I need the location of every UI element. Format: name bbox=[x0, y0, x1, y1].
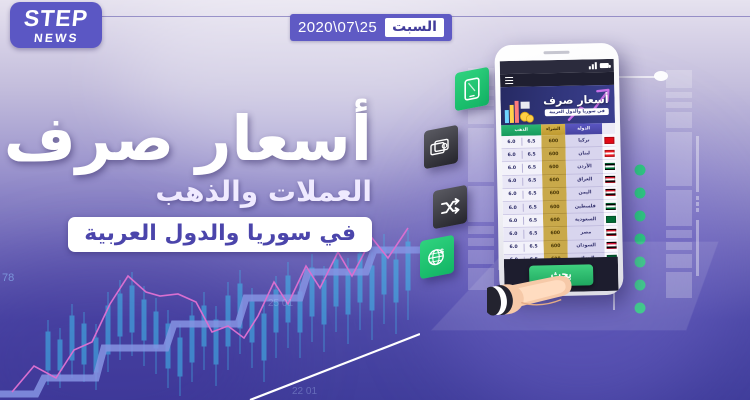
cell-country-flag bbox=[603, 160, 616, 173]
cell-country-name: فلسطين bbox=[567, 200, 604, 214]
cell-gold-prices: 6.06.5 bbox=[502, 188, 542, 202]
date-value: 2020\07\25 bbox=[298, 19, 377, 36]
page-scope-badge: في سوريا والدول العربية bbox=[68, 217, 372, 252]
step-line-blue bbox=[0, 250, 420, 394]
cell-gold-prices: 6.06.5 bbox=[502, 175, 542, 189]
cell-country-flag bbox=[604, 200, 617, 213]
flag-icon bbox=[605, 176, 615, 183]
app-header-banner: أسعار صرف في سوريا والدول العربية bbox=[500, 85, 615, 125]
cell-country-name: تركيا bbox=[565, 134, 602, 148]
cell-country-name: الأردن bbox=[566, 160, 603, 174]
gold-buy-value: 6.0 bbox=[508, 166, 516, 171]
app-title: أسعار صرف bbox=[543, 93, 609, 107]
trend-line-pink bbox=[12, 228, 408, 392]
cell-buy-rate: 600 bbox=[543, 201, 567, 215]
phone-speaker bbox=[544, 51, 570, 55]
gold-buy-value: 6.0 bbox=[509, 232, 517, 237]
search-button[interactable]: بحث bbox=[529, 264, 594, 286]
cell-country-flag bbox=[603, 147, 616, 160]
gold-sell-value: 6.5 bbox=[527, 139, 535, 144]
cell-buy-rate: 600 bbox=[542, 148, 566, 162]
gold-sell-value: 6.5 bbox=[528, 179, 536, 184]
gold-sell-value: 6.5 bbox=[529, 245, 537, 250]
cell-country-flag bbox=[602, 134, 615, 147]
globe-currency-icon[interactable]: $ bbox=[420, 235, 454, 280]
cell-gold-prices: 6.06.5 bbox=[503, 228, 543, 242]
phone-screen: أسعار صرف في سوريا والدول العربية الذهب … bbox=[500, 59, 619, 293]
battery-icon bbox=[600, 63, 609, 68]
flag-icon bbox=[606, 229, 616, 236]
cell-buy-rate: 600 bbox=[543, 227, 567, 241]
cards-stack-icon[interactable] bbox=[424, 125, 458, 170]
cell-gold-prices: 6.06.5 bbox=[503, 214, 543, 228]
cell-country-flag bbox=[603, 173, 616, 186]
flag-icon bbox=[605, 202, 615, 209]
date-bar: 2020\07\25 السبت bbox=[290, 14, 452, 41]
flag-icon bbox=[604, 163, 614, 170]
gold-buy-value: 6.0 bbox=[509, 245, 517, 250]
weekday-badge: السبت bbox=[385, 18, 444, 37]
cell-buy-rate: 600 bbox=[541, 135, 565, 149]
cell-buy-rate: 600 bbox=[542, 174, 566, 188]
search-bar: بحث bbox=[504, 257, 619, 293]
headline-block: أسعار صرف العملات والذهب في سوريا والدول… bbox=[22, 110, 372, 252]
column-header-flag bbox=[602, 123, 615, 134]
app-subtitle: في سوريا والدول العربية bbox=[545, 108, 609, 116]
step-news-logo[interactable]: STEP NEWS bbox=[10, 2, 102, 48]
cell-country-name: المغرب bbox=[569, 292, 606, 293]
cell-buy-rate: 600 bbox=[543, 240, 567, 254]
cell-country-name: لبنان bbox=[566, 147, 603, 161]
gold-buy-value: 6.0 bbox=[508, 153, 516, 158]
decorative-panel-right bbox=[660, 62, 720, 306]
gold-buy-value: 6.0 bbox=[508, 192, 516, 197]
gold-buy-value: 6.0 bbox=[508, 179, 516, 184]
chart-ghost-label-2: 22 01 bbox=[292, 386, 317, 397]
column-header-country: الدولة bbox=[565, 123, 602, 135]
chart-axis-label: 78 bbox=[2, 272, 14, 284]
cell-country-name: مصر bbox=[567, 226, 604, 240]
gold-buy-value: 6.0 bbox=[509, 205, 517, 210]
gold-buy-value: 6.0 bbox=[509, 219, 517, 224]
menu-icon[interactable] bbox=[505, 77, 513, 85]
infographic-canvas: 78 25 01 22 01 STEP NEWS 2020\07\25 السب… bbox=[0, 0, 750, 400]
cell-country-name: السعودية bbox=[567, 213, 604, 227]
white-baseline bbox=[250, 334, 420, 400]
cell-country-name: السودان bbox=[567, 240, 604, 254]
cell-country-name: العراق bbox=[566, 174, 603, 188]
candlestick-series bbox=[46, 230, 410, 396]
gold-buy-value: 6.0 bbox=[507, 139, 515, 144]
glow-blob-bottom-left bbox=[0, 250, 280, 400]
gold-sell-value: 6.5 bbox=[528, 152, 536, 157]
cell-country-flag bbox=[606, 292, 619, 293]
cell-country-flag bbox=[604, 239, 617, 252]
cell-buy-rate: 600 bbox=[542, 188, 566, 202]
cell-gold-prices: 6.06.5 bbox=[502, 149, 542, 163]
gold-sell-value: 6.5 bbox=[528, 192, 536, 197]
logo-text-step: STEP bbox=[23, 7, 89, 30]
flag-icon bbox=[605, 189, 615, 196]
exchange-shuffle-icon[interactable] bbox=[433, 185, 467, 230]
gold-sell-value: 6.5 bbox=[529, 231, 537, 236]
flag-icon bbox=[604, 150, 614, 157]
cell-country-name: اليمن bbox=[566, 187, 603, 201]
cell-country-flag bbox=[604, 226, 617, 239]
cell-buy-rate: 600 bbox=[543, 214, 567, 228]
coins-chart-icon bbox=[503, 98, 534, 125]
cell-gold-prices: 6.06.5 bbox=[503, 201, 543, 215]
mobile-phone-icon[interactable] bbox=[455, 67, 489, 112]
svg-text:$: $ bbox=[440, 248, 444, 256]
gold-sell-value: 6.5 bbox=[529, 205, 537, 210]
flag-icon bbox=[606, 242, 616, 249]
gold-sell-value: 6.5 bbox=[528, 165, 536, 170]
cell-buy-rate: 600 bbox=[542, 161, 566, 175]
chart-ghost-label-1: 25 01 bbox=[268, 298, 293, 309]
flag-icon bbox=[604, 136, 614, 143]
page-subtitle: العملات والذهب bbox=[22, 175, 372, 208]
column-header-buy: الشراء bbox=[541, 124, 565, 136]
signal-icon bbox=[589, 62, 597, 69]
page-title: أسعار صرف bbox=[22, 110, 372, 169]
cell-gold-prices: 6.06.5 bbox=[501, 135, 541, 149]
progress-dots bbox=[635, 165, 646, 314]
logo-text-news: NEWS bbox=[33, 32, 79, 44]
cell-country-flag bbox=[603, 187, 616, 200]
gold-sell-value: 6.5 bbox=[529, 218, 537, 223]
cell-country-flag bbox=[604, 213, 617, 226]
column-header-gold: الذهب bbox=[501, 124, 541, 136]
smartphone-mockup: أسعار صرف في سوريا والدول العربية الذهب … bbox=[494, 43, 623, 298]
cell-gold-prices: 6.06.5 bbox=[503, 241, 543, 255]
cell-gold-prices: 6.06.5 bbox=[502, 162, 542, 176]
flag-icon bbox=[605, 216, 615, 223]
